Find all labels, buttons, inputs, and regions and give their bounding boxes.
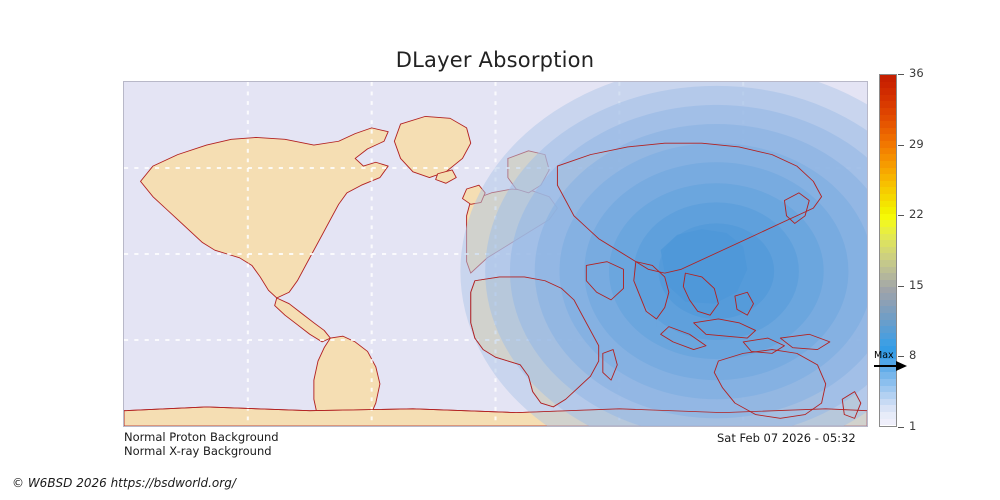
arrow-right-icon bbox=[874, 359, 908, 373]
tick-label: 22 bbox=[909, 207, 924, 221]
colorbar-segment bbox=[880, 372, 896, 379]
colorbar-segment bbox=[880, 227, 896, 234]
colorbar-segment bbox=[880, 168, 896, 175]
colorbar-segment bbox=[880, 101, 896, 108]
xray-background-status: Normal X-ray Background bbox=[124, 444, 272, 458]
tick-mark bbox=[898, 145, 904, 146]
colorbar-segment bbox=[880, 240, 896, 247]
colorbar-segment bbox=[880, 108, 896, 115]
colorbar-segment bbox=[880, 273, 896, 280]
colorbar-segment bbox=[880, 320, 896, 327]
colorbar-segment bbox=[880, 134, 896, 141]
colorbar-segment bbox=[880, 148, 896, 155]
colorbar-segment bbox=[880, 326, 896, 333]
colorbar-segment bbox=[880, 121, 896, 128]
colorbar-segment bbox=[880, 214, 896, 221]
colorbar-segment bbox=[880, 300, 896, 307]
tick-mark bbox=[898, 74, 904, 75]
colorbar-segment bbox=[880, 75, 896, 82]
colorbar-segment bbox=[880, 220, 896, 227]
colorbar-segment bbox=[880, 333, 896, 340]
colorbar-segment bbox=[880, 88, 896, 95]
colorbar-segment bbox=[880, 392, 896, 399]
colorbar-segment bbox=[880, 247, 896, 254]
colorbar-segment bbox=[880, 280, 896, 287]
colorbar-segment bbox=[880, 379, 896, 386]
colorbar-segment bbox=[880, 174, 896, 181]
colorbar-segment bbox=[880, 253, 896, 260]
colorbar-segment bbox=[880, 412, 896, 419]
timestamp: Sat Feb 07 2026 - 05:32 bbox=[717, 431, 856, 445]
coastline-overlay-layer bbox=[124, 82, 867, 426]
copyright-notice: © W6BSD 2026 https://bsdworld.org/ bbox=[12, 476, 236, 490]
colorbar-segment bbox=[880, 194, 896, 201]
tick-label: 15 bbox=[909, 278, 924, 292]
proton-background-status: Normal Proton Background bbox=[124, 430, 279, 444]
colorbar-segment bbox=[880, 287, 896, 294]
tick-label: 29 bbox=[909, 137, 924, 151]
colorbar-segment bbox=[880, 399, 896, 406]
colorbar bbox=[879, 74, 897, 427]
colorbar-segment bbox=[880, 405, 896, 412]
colorbar-segment bbox=[880, 306, 896, 313]
colorbar-segment bbox=[880, 267, 896, 274]
colorbar-segment bbox=[880, 95, 896, 102]
colorbar-segment bbox=[880, 115, 896, 122]
colorbar-segment bbox=[880, 260, 896, 267]
colorbar-axis-label: Affected Frequency (MHz) bbox=[921, 0, 945, 75]
world-map-panel[interactable] bbox=[123, 81, 868, 427]
colorbar-segment bbox=[880, 386, 896, 393]
tick-mark bbox=[898, 427, 904, 428]
colorbar-segment bbox=[880, 313, 896, 320]
colorbar-segment bbox=[880, 141, 896, 148]
colorbar-tick-labels: 3629221581 bbox=[898, 64, 958, 444]
colorbar-segment bbox=[880, 339, 896, 346]
colorbar-segment bbox=[880, 187, 896, 194]
colorbar-segment bbox=[880, 181, 896, 188]
colorbar-segment bbox=[880, 419, 896, 426]
colorbar-segment bbox=[880, 201, 896, 208]
tick-mark bbox=[898, 286, 904, 287]
colorbar-segment bbox=[880, 234, 896, 241]
colorbar-segment bbox=[880, 293, 896, 300]
max-frequency-marker: Max bbox=[874, 350, 914, 372]
page-title: DLayer Absorption bbox=[0, 48, 990, 72]
colorbar-segment bbox=[880, 82, 896, 89]
tick-mark bbox=[898, 215, 904, 216]
colorbar-gradient bbox=[879, 74, 897, 427]
colorbar-segment bbox=[880, 207, 896, 214]
colorbar-segment bbox=[880, 161, 896, 168]
tick-label: 1 bbox=[909, 419, 916, 433]
colorbar-segment bbox=[880, 154, 896, 161]
colorbar-segment bbox=[880, 128, 896, 135]
dlayer-absorption-map-view: DLayer Absorption bbox=[0, 0, 1000, 500]
